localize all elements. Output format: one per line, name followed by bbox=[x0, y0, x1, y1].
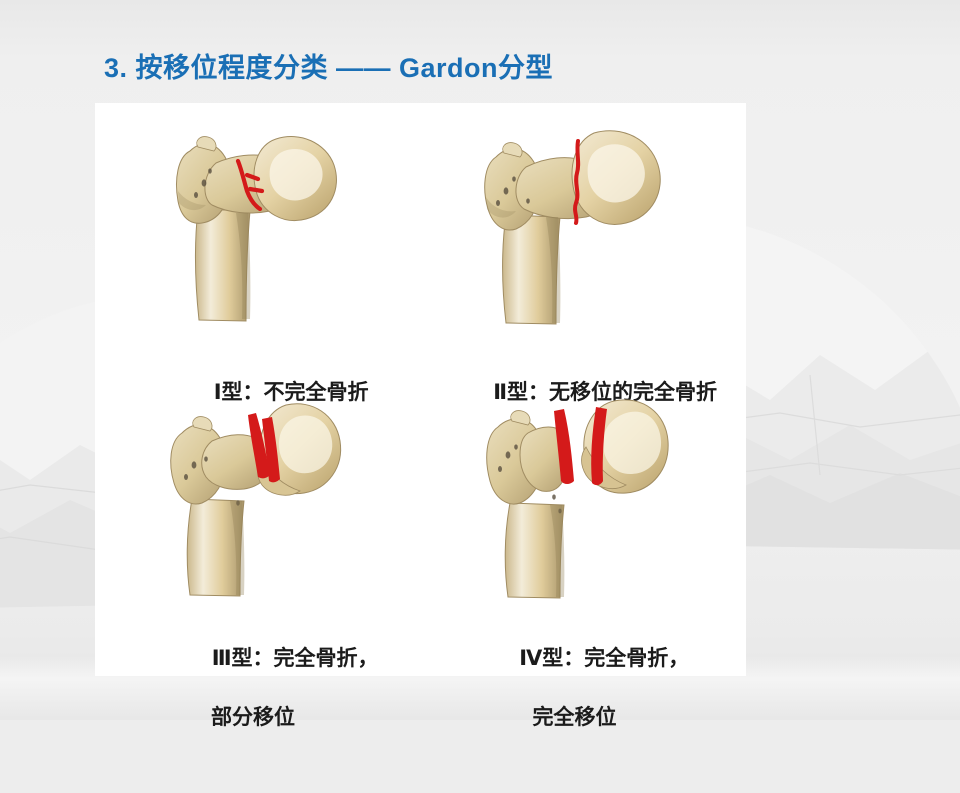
page-title: 3. 按移位程度分类 —— Gardon分型 bbox=[104, 46, 553, 85]
gardon-type-grid: Ⅰ型：不完全骨折 bbox=[95, 103, 746, 676]
gardon-type-1-cell: Ⅰ型：不完全骨折 bbox=[95, 105, 421, 393]
gardon-type-4-caption: Ⅳ型：完全骨折， 完全移位 bbox=[421, 614, 747, 793]
type-4-caption-line2: 完全移位 bbox=[473, 703, 747, 733]
femur-type-1-incomplete-fracture-figure bbox=[95, 105, 421, 342]
femur-illustration-type-4 bbox=[476, 393, 691, 608]
type-3-caption-line1: Ⅲ型：完全骨折， bbox=[212, 647, 379, 670]
gardon-type-3-cell: Ⅲ型：完全骨折， 部分移位 bbox=[95, 393, 421, 676]
femur-illustration-type-3 bbox=[150, 393, 365, 608]
illustration-panel: Ⅰ型：不完全骨折 bbox=[95, 103, 746, 676]
femur-illustration-type-2 bbox=[476, 105, 691, 342]
gardon-type-3-caption: Ⅲ型：完全骨折， 部分移位 bbox=[95, 614, 421, 793]
type-4-caption-line1: Ⅳ型：完全骨折， bbox=[519, 647, 689, 670]
femur-type-4-full-displacement-figure bbox=[421, 393, 747, 608]
femur-illustration-type-1 bbox=[150, 105, 365, 342]
fracture-surfaces-type-4 bbox=[554, 407, 607, 485]
gardon-type-4-cell: Ⅳ型：完全骨折， 完全移位 bbox=[421, 393, 747, 676]
femur-type-3-partial-displacement-figure bbox=[95, 393, 421, 608]
type-3-caption-line2: 部分移位 bbox=[165, 703, 421, 733]
femur-type-2-complete-undisplaced-figure bbox=[421, 105, 747, 342]
gardon-type-2-cell: Ⅱ型：无移位的完全骨折 bbox=[421, 105, 747, 393]
